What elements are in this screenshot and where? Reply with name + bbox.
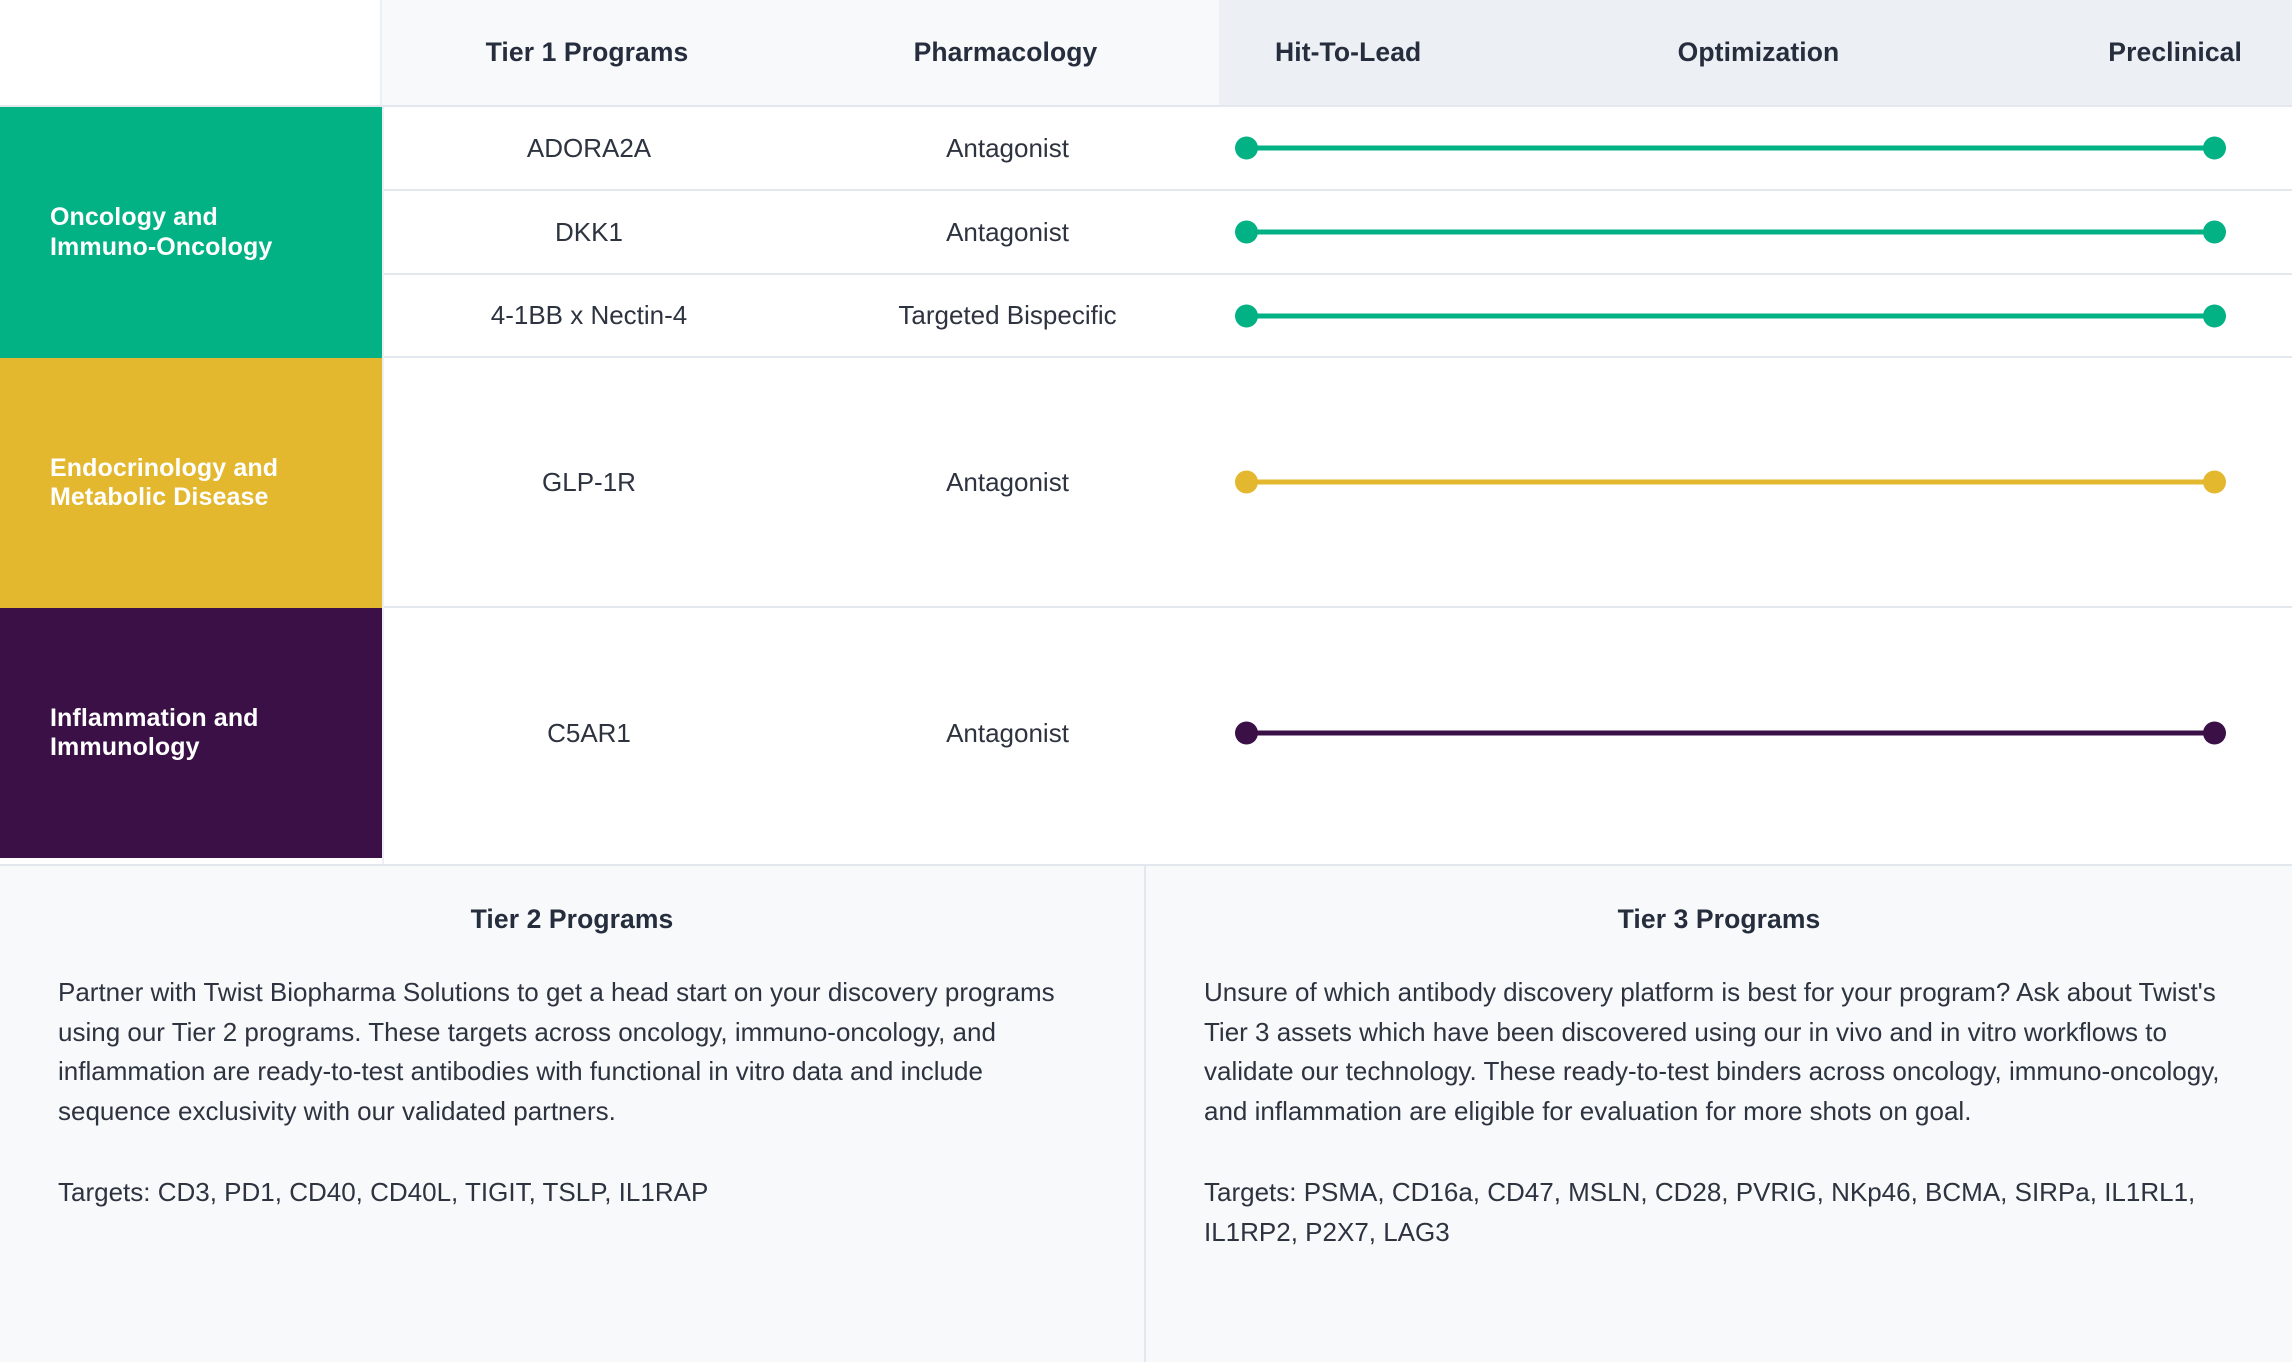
progress-bar-line <box>1245 731 2216 736</box>
tier-2-title: Tier 2 Programs <box>58 904 1086 935</box>
therapeutic-area-label: Oncology andImmuno-Oncology <box>50 203 272 262</box>
program-name-cell: C5AR1 <box>384 718 794 749</box>
therapeutic-area-label-line: Immunology <box>50 733 200 761</box>
header-label-stage-optimization: Optimization <box>1597 37 1919 68</box>
therapeutic-area-label: Endocrinology andMetabolic Disease <box>50 454 278 513</box>
progress-bar <box>1235 721 2226 745</box>
program-name-cell: 4-1BB x Nectin-4 <box>384 300 794 331</box>
progress-bar <box>1235 304 2226 328</box>
pharmacology-cell: Targeted Bispecific <box>794 300 1221 331</box>
progress-start-dot-icon <box>1235 221 1258 244</box>
progress-track-cell <box>1221 358 2292 606</box>
tier-3-panel: Tier 3 Programs Unsure of which antibody… <box>1146 866 2292 1362</box>
table-header: Tier 1 Programs Pharmacology Hit-To-Lead… <box>0 0 2292 107</box>
progress-bar-line <box>1245 480 2216 485</box>
header-label-tier1-programs: Tier 1 Programs <box>486 37 689 68</box>
progress-bar <box>1235 470 2226 494</box>
table-row: 4-1BB x Nectin-4Targeted Bispecific <box>384 275 2292 358</box>
pharmacology-cell: Antagonist <box>794 217 1221 248</box>
pharmacology-cell: Antagonist <box>794 133 1221 164</box>
tier-3-description: Unsure of which antibody discovery platf… <box>1204 973 2234 1131</box>
header-stages-group: Hit-To-Lead Optimization Preclinical <box>1219 0 2292 105</box>
therapeutic-area-label-line: Immuno-Oncology <box>50 233 272 261</box>
progress-end-dot-icon <box>2203 471 2226 494</box>
progress-end-dot-icon <box>2203 221 2226 244</box>
progress-track-cell <box>1221 107 2292 189</box>
tier-2-targets: Targets: CD3, PD1, CD40, CD40L, TIGIT, T… <box>58 1173 1086 1213</box>
progress-track-cell <box>1221 191 2292 273</box>
program-name-cell: GLP-1R <box>384 467 794 498</box>
therapeutic-area-label-line: Oncology and <box>50 203 218 231</box>
therapeutic-area-column: Oncology andImmuno-OncologyEndocrinology… <box>0 107 382 864</box>
progress-bar <box>1235 136 2226 160</box>
table-body: Oncology andImmuno-OncologyEndocrinology… <box>0 107 2292 864</box>
header-cell-pharmacology: Pharmacology <box>792 0 1219 105</box>
table-row: GLP-1RAntagonist <box>384 358 2292 608</box>
tier-2-panel: Tier 2 Programs Partner with Twist Bioph… <box>0 866 1146 1362</box>
progress-bar-line <box>1245 146 2216 151</box>
program-rows-column: ADORA2AAntagonistDKK1Antagonist4-1BB x N… <box>382 107 2292 864</box>
progress-track-cell <box>1221 275 2292 356</box>
progress-end-dot-icon <box>2203 137 2226 160</box>
progress-bar-line <box>1245 230 2216 235</box>
tier-3-title: Tier 3 Programs <box>1204 904 2234 935</box>
program-name-cell: DKK1 <box>384 217 794 248</box>
table-row: ADORA2AAntagonist <box>384 107 2292 191</box>
therapeutic-area-label-line: Inflammation and <box>50 704 259 732</box>
pharmacology-cell: Antagonist <box>794 467 1221 498</box>
tier-3-targets: Targets: PSMA, CD16a, CD47, MSLN, CD28, … <box>1204 1173 2234 1252</box>
progress-track-cell <box>1221 608 2292 858</box>
progress-start-dot-icon <box>1235 304 1258 327</box>
therapeutic-area-label-line: Metabolic Disease <box>50 483 268 511</box>
therapeutic-area-block: Oncology andImmuno-Oncology <box>0 107 382 358</box>
therapeutic-area-label: Inflammation andImmunology <box>50 704 259 763</box>
progress-end-dot-icon <box>2203 722 2226 745</box>
therapeutic-area-label-line: Endocrinology and <box>50 454 278 482</box>
progress-start-dot-icon <box>1235 137 1258 160</box>
header-corner-cell <box>0 0 382 105</box>
program-name-cell: ADORA2A <box>384 133 794 164</box>
therapeutic-area-block: Endocrinology andMetabolic Disease <box>0 358 382 608</box>
table-row: C5AR1Antagonist <box>384 608 2292 858</box>
progress-start-dot-icon <box>1235 471 1258 494</box>
header-label-stage-hit-to-lead: Hit-To-Lead <box>1219 37 1597 68</box>
progress-bar <box>1235 220 2226 244</box>
pipeline-chart: Tier 1 Programs Pharmacology Hit-To-Lead… <box>0 0 2292 1362</box>
pharmacology-cell: Antagonist <box>794 718 1221 749</box>
header-label-pharmacology: Pharmacology <box>914 37 1098 68</box>
table-row: DKK1Antagonist <box>384 191 2292 275</box>
header-label-stage-preclinical: Preclinical <box>1920 37 2292 68</box>
therapeutic-area-block: Inflammation andImmunology <box>0 608 382 858</box>
header-cell-tier1-programs: Tier 1 Programs <box>382 0 792 105</box>
progress-end-dot-icon <box>2203 304 2226 327</box>
progress-start-dot-icon <box>1235 722 1258 745</box>
progress-bar-line <box>1245 313 2216 318</box>
tier-programs-section: Tier 2 Programs Partner with Twist Bioph… <box>0 864 2292 1362</box>
tier-2-description: Partner with Twist Biopharma Solutions t… <box>58 973 1086 1131</box>
